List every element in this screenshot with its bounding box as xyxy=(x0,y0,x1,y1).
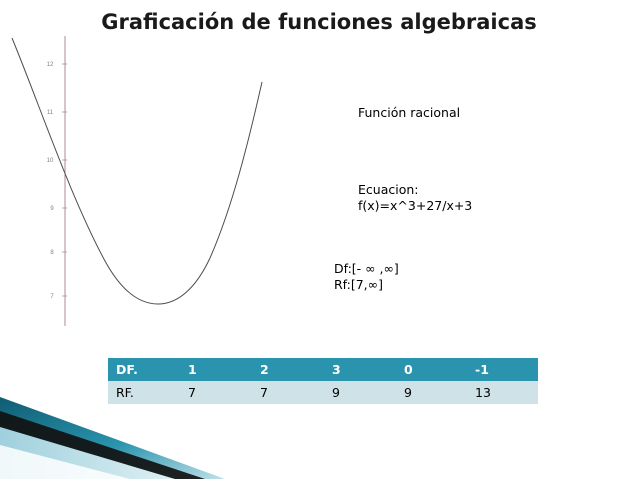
decorative-corner-graphic xyxy=(0,387,260,479)
table-header-cell: -1 xyxy=(467,358,538,381)
y-tick-label-8: 8 xyxy=(50,250,54,256)
parabola-curve xyxy=(12,38,262,304)
table-header-cell: 3 xyxy=(324,358,396,381)
equation-text: f(x)=x^3+27/x+3 xyxy=(358,198,472,213)
table-header-cell: DF. xyxy=(108,358,180,381)
y-tick-label-10: 10 xyxy=(47,158,54,164)
page-title: Graficación de funciones algebraicas xyxy=(0,10,638,34)
table-header-cell: 0 xyxy=(396,358,467,381)
equation-label: Ecuacion: xyxy=(358,182,418,197)
y-tick-label-11: 11 xyxy=(47,110,54,116)
parabola-graph: 12 11 10 9 8 7 xyxy=(0,36,320,336)
table-cell: 13 xyxy=(467,381,538,404)
y-tick-label-12: 12 xyxy=(47,62,54,68)
table-header-row: DF. 1 2 3 0 -1 xyxy=(108,358,538,381)
table-header-cell: 2 xyxy=(252,358,324,381)
range-text: Rf:[7,∞] xyxy=(334,277,383,292)
table-cell: 9 xyxy=(396,381,467,404)
domain-text: Df:[- ∞ ,∞] xyxy=(334,261,399,276)
table-header-cell: 1 xyxy=(180,358,252,381)
slide: Graficación de funciones algebraicas 12 … xyxy=(0,0,638,479)
y-tick-label-7: 7 xyxy=(50,294,54,300)
table-cell: 9 xyxy=(324,381,396,404)
domain-range-block: Df:[- ∞ ,∞] Rf:[7,∞] xyxy=(334,261,399,293)
function-heading: Función racional xyxy=(358,105,460,121)
y-tick-label-9: 9 xyxy=(50,206,54,212)
equation-block: Ecuacion: f(x)=x^3+27/x+3 xyxy=(358,182,472,214)
table-cell: 7 xyxy=(252,381,324,404)
